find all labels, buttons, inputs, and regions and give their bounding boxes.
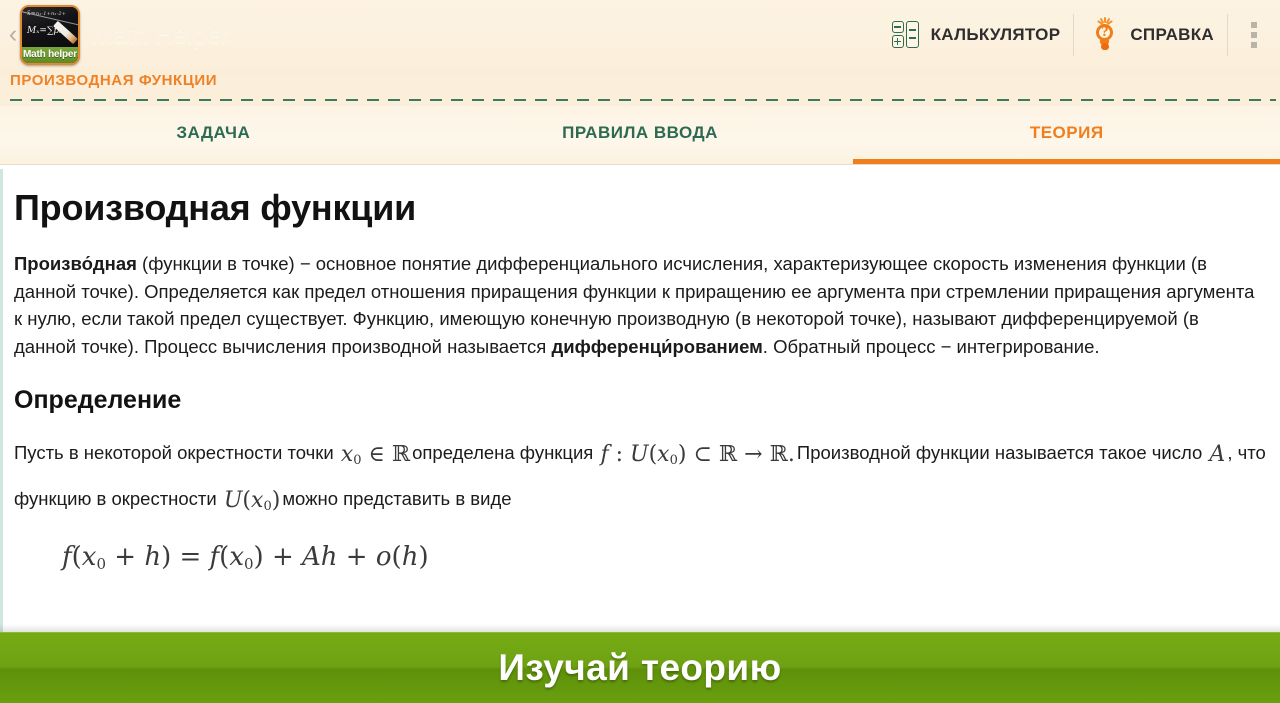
ad-banner-text: Изучай теорию: [498, 647, 781, 689]
tab-bar: ЗАДАЧА ПРАВИЛА ВВОДА ТЕОРИЯ: [0, 106, 1280, 165]
app-root: ‹ x̄=n₁·1+n₂·2+ Mₓ=∑pᵢxᵢ Math helper Mat…: [0, 0, 1280, 703]
app-header: ‹ x̄=n₁·1+n₂·2+ Mₓ=∑pᵢxᵢ Math helper Mat…: [0, 0, 1280, 70]
app-title: Math Helper: [92, 21, 229, 50]
article-content[interactable]: Производная функции Произво́дная (функци…: [0, 165, 1280, 632]
calculator-label: КАЛЬКУЛЯТОР: [931, 25, 1061, 45]
calculator-icon: [892, 20, 922, 50]
intro-paragraph: Произво́дная (функции в точке) − основно…: [14, 250, 1257, 360]
calculator-button[interactable]: КАЛЬКУЛЯТОР: [879, 0, 1074, 70]
tab-task[interactable]: ЗАДАЧА: [0, 106, 427, 164]
math-U-x0: U(x0): [222, 488, 282, 513]
overflow-menu-icon[interactable]: [1228, 0, 1280, 70]
math-f-U-x0: f : U(x0) ⊂ ℝ → ℝ.: [598, 442, 796, 467]
math-x0-in-R: x0 ∈ ℝ: [339, 442, 412, 467]
section-heading-definition: Определение: [14, 386, 1266, 415]
def-text-2: определена функция: [412, 442, 593, 463]
lightbulb-question-icon: ?: [1087, 19, 1121, 51]
intro-lead-term: Произво́дная: [14, 253, 137, 274]
app-icon-formula-top: x̄=n₁·1+n₂·2+: [27, 10, 66, 17]
content-bottom-shadow: [0, 624, 1280, 632]
display-formula: f(x0 + h) = f(x0) + Ah + o(h): [62, 542, 1266, 573]
math-A: A: [1207, 442, 1227, 467]
app-icon-tag: Math helper: [22, 47, 78, 63]
help-label: СПРАВКА: [1130, 25, 1214, 45]
definition-paragraph: Пусть в некоторой окрестности точки x0 ∈…: [14, 434, 1266, 526]
ad-banner[interactable]: Изучай теорию: [0, 632, 1280, 703]
scroll-rail[interactable]: [0, 169, 3, 632]
dashed-divider: [10, 99, 1276, 101]
math-helper-app-icon[interactable]: x̄=n₁·1+n₂·2+ Mₓ=∑pᵢxᵢ Math helper: [20, 5, 80, 65]
def-text-3: Производной функции называется такое чис…: [797, 442, 1202, 463]
subtitle-bar: ПРОИЗВОДНАЯ ФУНКЦИИ: [0, 70, 1280, 106]
def-text-1: Пусть в некоторой окрестности точки: [14, 442, 334, 463]
page-title: Производная функции: [14, 187, 1266, 229]
help-button[interactable]: ? СПРАВКА: [1074, 0, 1227, 70]
page-subtitle: ПРОИЗВОДНАЯ ФУНКЦИИ: [10, 70, 217, 92]
def-text-5: можно представить в виде: [282, 488, 511, 509]
tab-theory[interactable]: ТЕОРИЯ: [853, 106, 1280, 164]
intro-text-2: . Обратный процесс − интегрирование.: [763, 336, 1100, 357]
tab-input-rules[interactable]: ПРАВИЛА ВВОДА: [427, 106, 854, 164]
intro-bold-term-2: дифференци́рованием: [551, 336, 762, 357]
